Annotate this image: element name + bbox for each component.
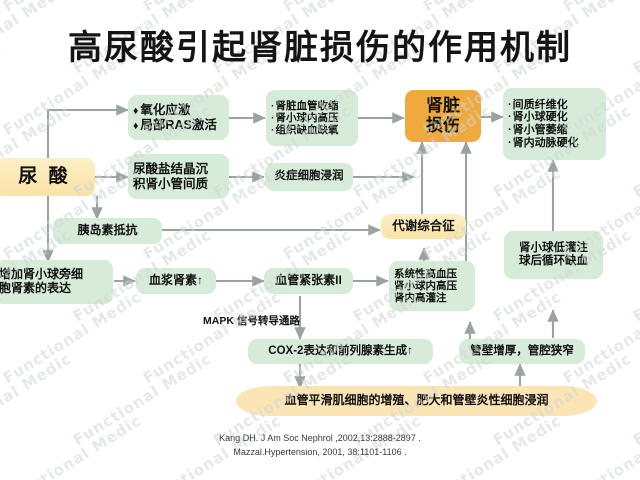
- node-smooth-muscle-proliferation[interactable]: 血管平滑肌细胞的增殖、肥大和管壁炎性细胞浸润: [236, 386, 597, 416]
- node-kidney-injury-line-1: 肾脏: [410, 96, 476, 116]
- node-hypertension-line-1: 系统性高血压: [394, 268, 470, 280]
- node-renin-expression-line-1: 增加肾小球旁细: [0, 268, 108, 282]
- node-angiotensin-ii-label: 血管紧张素II: [275, 274, 342, 288]
- node-insulin-resistance[interactable]: 胰岛素抵抗: [53, 218, 162, 244]
- node-outcomes-line-1: 间质纤维化: [508, 99, 601, 112]
- node-vaso-line-3: 组织缺血缺氧: [271, 124, 353, 136]
- node-wall-thickening-label: 管壁增厚，管腔狭窄: [470, 345, 574, 358]
- node-hypoperfusion-line-1: 肾小球低灌注: [509, 242, 598, 255]
- node-urate-crystal-line-2: 积肾小管间质: [133, 177, 224, 192]
- node-urate-crystal[interactable]: 尿酸盐结晶沉 积肾小管间质: [128, 154, 229, 199]
- node-oxidative-line-2: 局部RAS激活: [133, 118, 224, 133]
- node-vasoconstriction[interactable]: 肾脏血管收缩 肾小球内高压 组织缺血缺氧: [266, 90, 358, 146]
- node-hypertension-line-3: 肾内高灌注: [394, 292, 470, 304]
- node-inflammation-label: 炎症细胞浸润: [275, 170, 344, 183]
- node-plasma-renin-label: 血浆肾素↑: [149, 274, 203, 288]
- node-vaso-line-1: 肾脏血管收缩: [271, 100, 353, 112]
- node-uric-acid[interactable]: 尿 酸: [0, 158, 95, 196]
- node-uric-acid-label: 尿 酸: [18, 166, 70, 188]
- node-hypoperfusion-line-2: 球后循环缺血: [509, 255, 598, 268]
- node-outcomes[interactable]: 间质纤维化 肾小球硬化 肾小管萎缩 肾内动脉硬化: [503, 88, 606, 160]
- node-smooth-muscle-label: 血管平滑肌细胞的增殖、肥大和管壁炎性细胞浸润: [284, 394, 548, 408]
- node-oxidative-stress[interactable]: 氧化应激 局部RAS激活: [128, 95, 229, 140]
- node-renin-expression-line-2: 胞肾素的表达: [0, 282, 108, 296]
- node-kidney-injury[interactable]: 肾脏 损伤: [405, 90, 481, 142]
- node-cox2[interactable]: COX-2表达和前列腺素生成↑: [248, 339, 433, 364]
- node-metabolic-syndrome[interactable]: 代谢综合征: [381, 214, 466, 239]
- node-urate-crystal-line-1: 尿酸盐结晶沉: [133, 162, 224, 177]
- node-hypertension[interactable]: 系统性高血压 肾小球内高压 肾内高灌注: [389, 261, 475, 311]
- node-cox2-label: COX-2表达和前列腺素生成↑: [268, 345, 412, 358]
- node-outcomes-line-3: 肾小管萎缩: [508, 124, 601, 137]
- node-vaso-line-2: 肾小球内高压: [271, 112, 353, 124]
- node-insulin-resistance-label: 胰岛素抵抗: [77, 224, 137, 238]
- node-hypoperfusion[interactable]: 肾小球低灌注 球后循环缺血: [504, 231, 603, 279]
- node-metabolic-syndrome-label: 代谢综合征: [392, 219, 455, 234]
- node-renin-expression[interactable]: 增加肾小球旁细 胞肾素的表达: [0, 260, 113, 304]
- node-angiotensin-ii[interactable]: 血管紧张素II: [264, 268, 353, 294]
- node-wall-thickening[interactable]: 管壁增厚，管腔狭窄: [459, 339, 585, 364]
- citation-block: Kang DH. J Am Soc Nephrol ,2002,13:2888-…: [0, 432, 640, 460]
- page-title: 高尿酸引起肾脏损伤的作用机制: [0, 20, 640, 69]
- node-kidney-injury-line-2: 损伤: [410, 116, 476, 136]
- node-outcomes-line-2: 肾小球硬化: [508, 111, 601, 124]
- node-outcomes-line-4: 肾内动脉硬化: [508, 137, 601, 150]
- node-inflammation[interactable]: 炎症细胞浸润: [265, 163, 353, 191]
- annotation-mapk-pathway: MAPK 信号转导通路: [203, 313, 300, 328]
- node-oxidative-line-1: 氧化应激: [133, 103, 224, 118]
- slide-canvas: Functional MedicFunctional MedicFunction…: [0, 0, 640, 480]
- node-hypertension-line-2: 肾小球内高压: [394, 280, 470, 292]
- citation-line-2: Mazzal.Hypertension, 2001, 38:1101-1106 …: [0, 446, 640, 460]
- citation-line-1: Kang DH. J Am Soc Nephrol ,2002,13:2888-…: [0, 432, 640, 446]
- node-plasma-renin[interactable]: 血浆肾素↑: [136, 268, 216, 294]
